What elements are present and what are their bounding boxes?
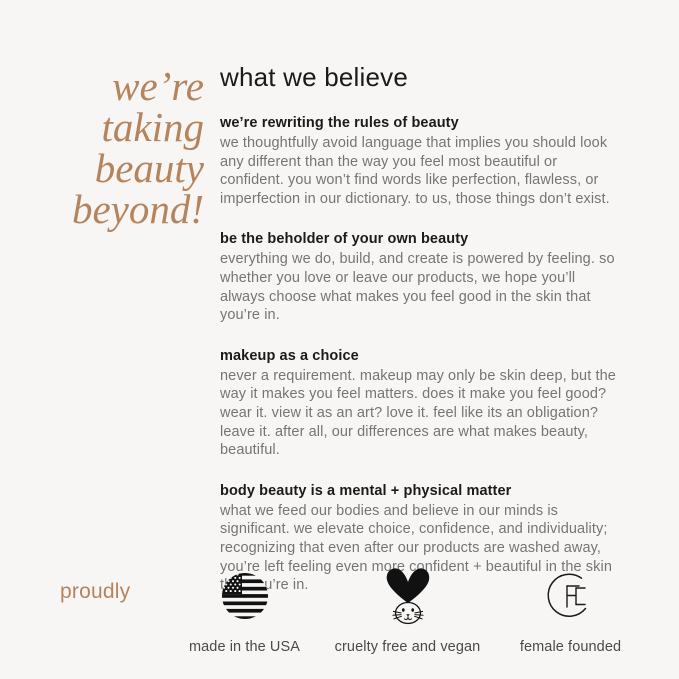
page-title: what we believe [220, 62, 639, 92]
believe-column: what we believe we’re rewriting the rule… [210, 62, 679, 595]
proudly-label: proudly [60, 579, 130, 605]
belief-section-makeup-choice: makeup as a choice never a requirement. … [220, 347, 639, 460]
brand-headline: we’re taking beauty beyond! [0, 62, 204, 230]
badge-made-in-usa: made in the USA [163, 565, 326, 656]
cruelty-free-bunny-icon [326, 565, 489, 627]
brand-values-page: we’re taking beauty beyond! what we beli… [0, 0, 679, 679]
section-body: everything we do, build, and create is p… [220, 250, 620, 324]
female-founded-monogram-icon [489, 565, 652, 627]
main-content: we’re taking beauty beyond! what we beli… [0, 62, 679, 595]
section-heading: be the beholder of your own beauty [220, 230, 639, 249]
badge-caption: cruelty free and vegan [326, 638, 489, 656]
section-heading: we’re rewriting the rules of beauty [220, 114, 639, 133]
headline-line-1: we’re [0, 66, 204, 107]
usa-flag-circle-icon [163, 565, 326, 627]
badge-caption: female founded [489, 638, 652, 656]
section-body: we thoughtfully avoid language that impl… [220, 134, 620, 208]
belief-section-beholder: be the beholder of your own beauty every… [220, 230, 639, 324]
belief-section-rewriting-rules: we’re rewriting the rules of beauty we t… [220, 114, 639, 208]
headline-line-3: beauty [0, 148, 204, 189]
badge-strip: proudly [0, 565, 679, 665]
section-heading: makeup as a choice [220, 347, 639, 366]
headline-column: we’re taking beauty beyond! [0, 62, 210, 230]
badge-female-founded: female founded [489, 565, 652, 656]
section-body: never a requirement. makeup may only be … [220, 367, 620, 460]
headline-line-2: taking [0, 107, 204, 148]
section-heading: body beauty is a mental + physical matte… [220, 482, 639, 501]
headline-line-4: beyond! [0, 189, 204, 230]
badge-caption: made in the USA [163, 638, 326, 656]
badge-cruelty-free: cruelty free and vegan [326, 565, 489, 656]
